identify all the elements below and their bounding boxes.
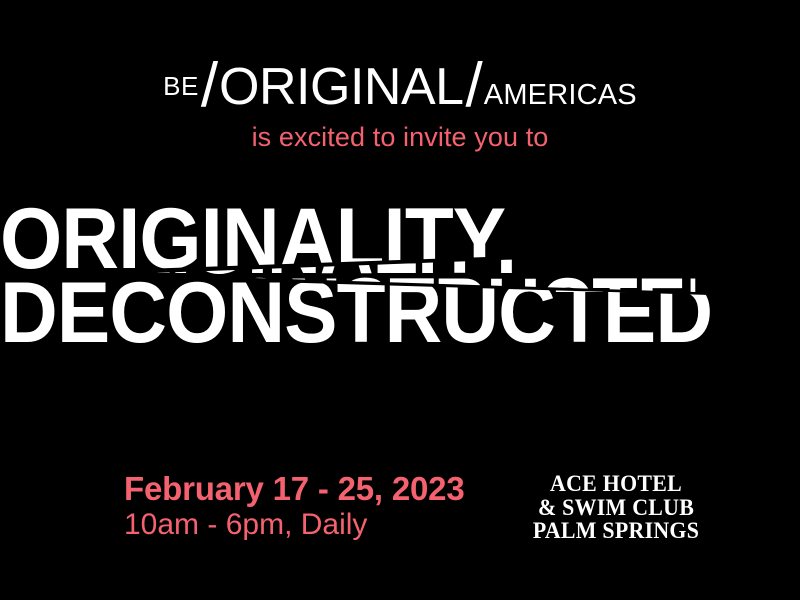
event-poster: BE/ORIGINAL/AMERICAS is excited to invit… (0, 0, 800, 600)
title-line-two: DECONSTRUCTED DECONSTRUCTED (0, 270, 744, 370)
venue-line-two: & SWIM CLUB (521, 496, 711, 520)
brand-logo: BE/ORIGINAL/AMERICAS (0, 55, 800, 117)
event-hours: 10am - 6pm, Daily (124, 508, 367, 541)
brand-slash-first: / (201, 55, 218, 117)
event-dates: February 17 - 25, 2023 (124, 472, 464, 507)
venue-line-three: PALM SPRINGS (521, 519, 711, 543)
deconstructed-title: ORIGINALITY ORIGINALITY DECONSTRUCTED DE… (0, 196, 800, 376)
brand-americas-text: AMERICAS (484, 81, 637, 110)
brand-slash-second: / (466, 55, 483, 117)
invitation-text: is excited to invite you to (0, 122, 800, 153)
brand-be-text: BE (163, 73, 199, 99)
venue-line-one: ACE HOTEL (521, 472, 711, 496)
brand-original-text: ORIGINAL (219, 61, 464, 113)
venue-logo: ACE HOTEL & SWIM CLUB PALM SPRINGS (521, 472, 711, 543)
